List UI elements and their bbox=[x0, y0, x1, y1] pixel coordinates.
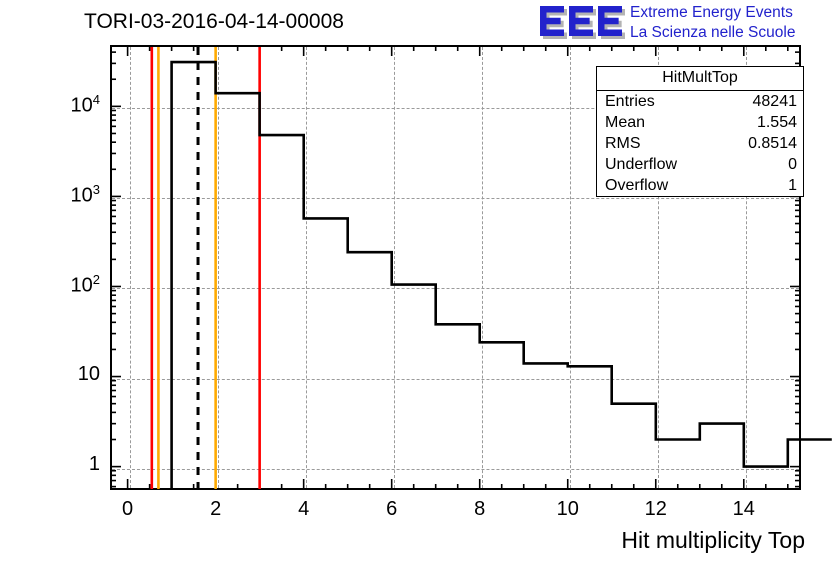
eee-logo-mark bbox=[536, 4, 626, 42]
stats-row: Mean1.554 bbox=[597, 112, 803, 133]
grid-line-horizontal bbox=[112, 469, 799, 470]
grid-line-horizontal bbox=[112, 198, 799, 199]
grid-line-vertical bbox=[394, 47, 395, 488]
stats-row-value: 0 bbox=[788, 155, 797, 174]
stats-row-value: 0.8514 bbox=[748, 134, 797, 153]
stats-row-value: 1.554 bbox=[757, 113, 797, 132]
plot-canvas: TORI-03-2016-04-14-00008 Extreme Energy … bbox=[0, 0, 836, 572]
grid-line-horizontal bbox=[112, 379, 799, 380]
eee-logo: Extreme Energy Events La Scienza nelle S… bbox=[536, 2, 836, 46]
y-tick-label: 1 bbox=[89, 453, 100, 476]
stats-box: HitMultTop Entries48241Mean1.554RMS0.851… bbox=[596, 66, 804, 197]
stats-title: HitMultTop bbox=[597, 67, 803, 91]
grid-line-vertical bbox=[482, 47, 483, 488]
x-tick-label: 14 bbox=[714, 498, 774, 521]
y-tick-label: 104 bbox=[71, 92, 100, 118]
x-tick-label: 2 bbox=[186, 498, 246, 521]
stats-row-key: Mean bbox=[605, 113, 645, 132]
x-tick-label: 10 bbox=[538, 498, 598, 521]
x-axis-title: Hit multiplicity Top bbox=[621, 527, 805, 554]
stats-row-key: RMS bbox=[605, 134, 641, 153]
stats-row-value: 48241 bbox=[753, 92, 798, 111]
x-tick-label: 6 bbox=[362, 498, 422, 521]
page-title: TORI-03-2016-04-14-00008 bbox=[84, 10, 344, 34]
y-tick-label: 102 bbox=[71, 272, 100, 298]
x-tick-label: 4 bbox=[274, 498, 334, 521]
stats-row: Overflow1 bbox=[597, 175, 803, 196]
grid-line-vertical bbox=[306, 47, 307, 488]
grid-line-vertical bbox=[570, 47, 571, 488]
x-tick-label: 12 bbox=[626, 498, 686, 521]
y-tick-label: 103 bbox=[71, 182, 100, 208]
x-tick-label: 0 bbox=[98, 498, 158, 521]
logo-line-1: Extreme Energy Events bbox=[630, 3, 795, 23]
stats-row: Entries48241 bbox=[597, 91, 803, 112]
stats-row-key: Underflow bbox=[605, 155, 677, 174]
grid-line-vertical bbox=[218, 47, 219, 488]
grid-line-vertical bbox=[130, 47, 131, 488]
stats-row: Underflow0 bbox=[597, 154, 803, 175]
stats-row: RMS0.8514 bbox=[597, 133, 803, 154]
grid-line-horizontal bbox=[112, 288, 799, 289]
eee-logo-text: Extreme Energy Events La Scienza nelle S… bbox=[630, 3, 795, 43]
stats-row-key: Entries bbox=[605, 92, 655, 111]
logo-line-2: La Scienza nelle Scuole bbox=[630, 23, 795, 43]
y-tick-label: 10 bbox=[78, 363, 100, 386]
x-tick-label: 8 bbox=[450, 498, 510, 521]
stats-rows: Entries48241Mean1.554RMS0.8514Underflow0… bbox=[597, 91, 803, 196]
stats-row-value: 1 bbox=[788, 176, 797, 195]
stats-row-key: Overflow bbox=[605, 176, 668, 195]
